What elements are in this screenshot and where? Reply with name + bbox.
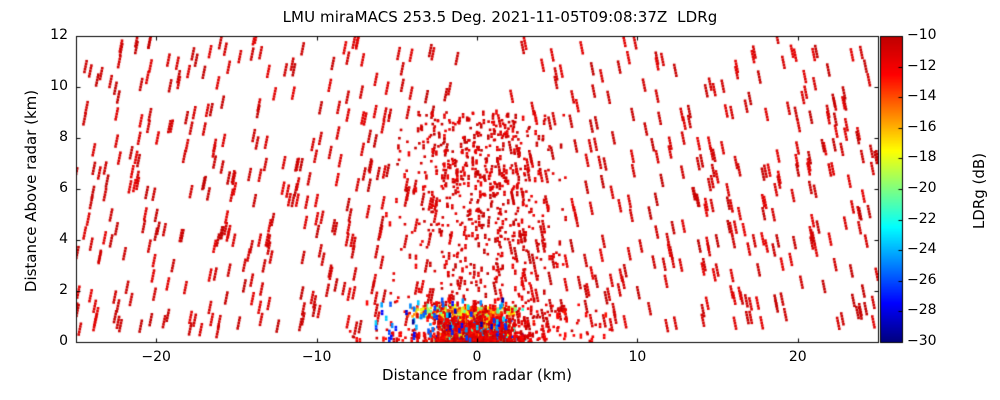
colorbar-tick-label: −22 — [907, 211, 957, 227]
colorbar-tick-label: −10 — [907, 27, 957, 43]
y-tick-label: 12 — [24, 27, 68, 43]
page-title: LMU miraMACS 253.5 Deg. 2021-11-05T09:08… — [0, 8, 1000, 26]
y-tick-label: 4 — [24, 231, 68, 247]
colorbar-tick-label: −26 — [907, 272, 957, 288]
colorbar-label: LDRg (dB) — [970, 36, 988, 346]
colorbar-tick-label: −16 — [907, 119, 957, 135]
y-tick-label: 0 — [24, 333, 68, 349]
colorbar-tick-label: −30 — [907, 333, 957, 349]
y-tick-label: 10 — [24, 78, 68, 94]
x-tick-label: 10 — [607, 349, 667, 365]
x-tick-label: 0 — [447, 349, 507, 365]
x-axis-label: Distance from radar (km) — [76, 366, 878, 384]
x-tick-label: −10 — [287, 349, 347, 365]
x-tick-label: −20 — [126, 349, 186, 365]
colorbar-tick-label: −18 — [907, 149, 957, 165]
colorbar-tick-label: −12 — [907, 58, 957, 74]
radar-rhi-scatter-plot — [0, 0, 1000, 400]
y-tick-label: 6 — [24, 180, 68, 196]
y-tick-label: 2 — [24, 282, 68, 298]
figure-canvas-container: LMU miraMACS 253.5 Deg. 2021-11-05T09:08… — [0, 0, 1000, 400]
colorbar-tick-label: −20 — [907, 180, 957, 196]
y-tick-label: 8 — [24, 129, 68, 145]
colorbar-tick-label: −24 — [907, 241, 957, 257]
colorbar-tick-label: −28 — [907, 302, 957, 318]
x-tick-label: 20 — [768, 349, 828, 365]
colorbar-tick-label: −14 — [907, 88, 957, 104]
